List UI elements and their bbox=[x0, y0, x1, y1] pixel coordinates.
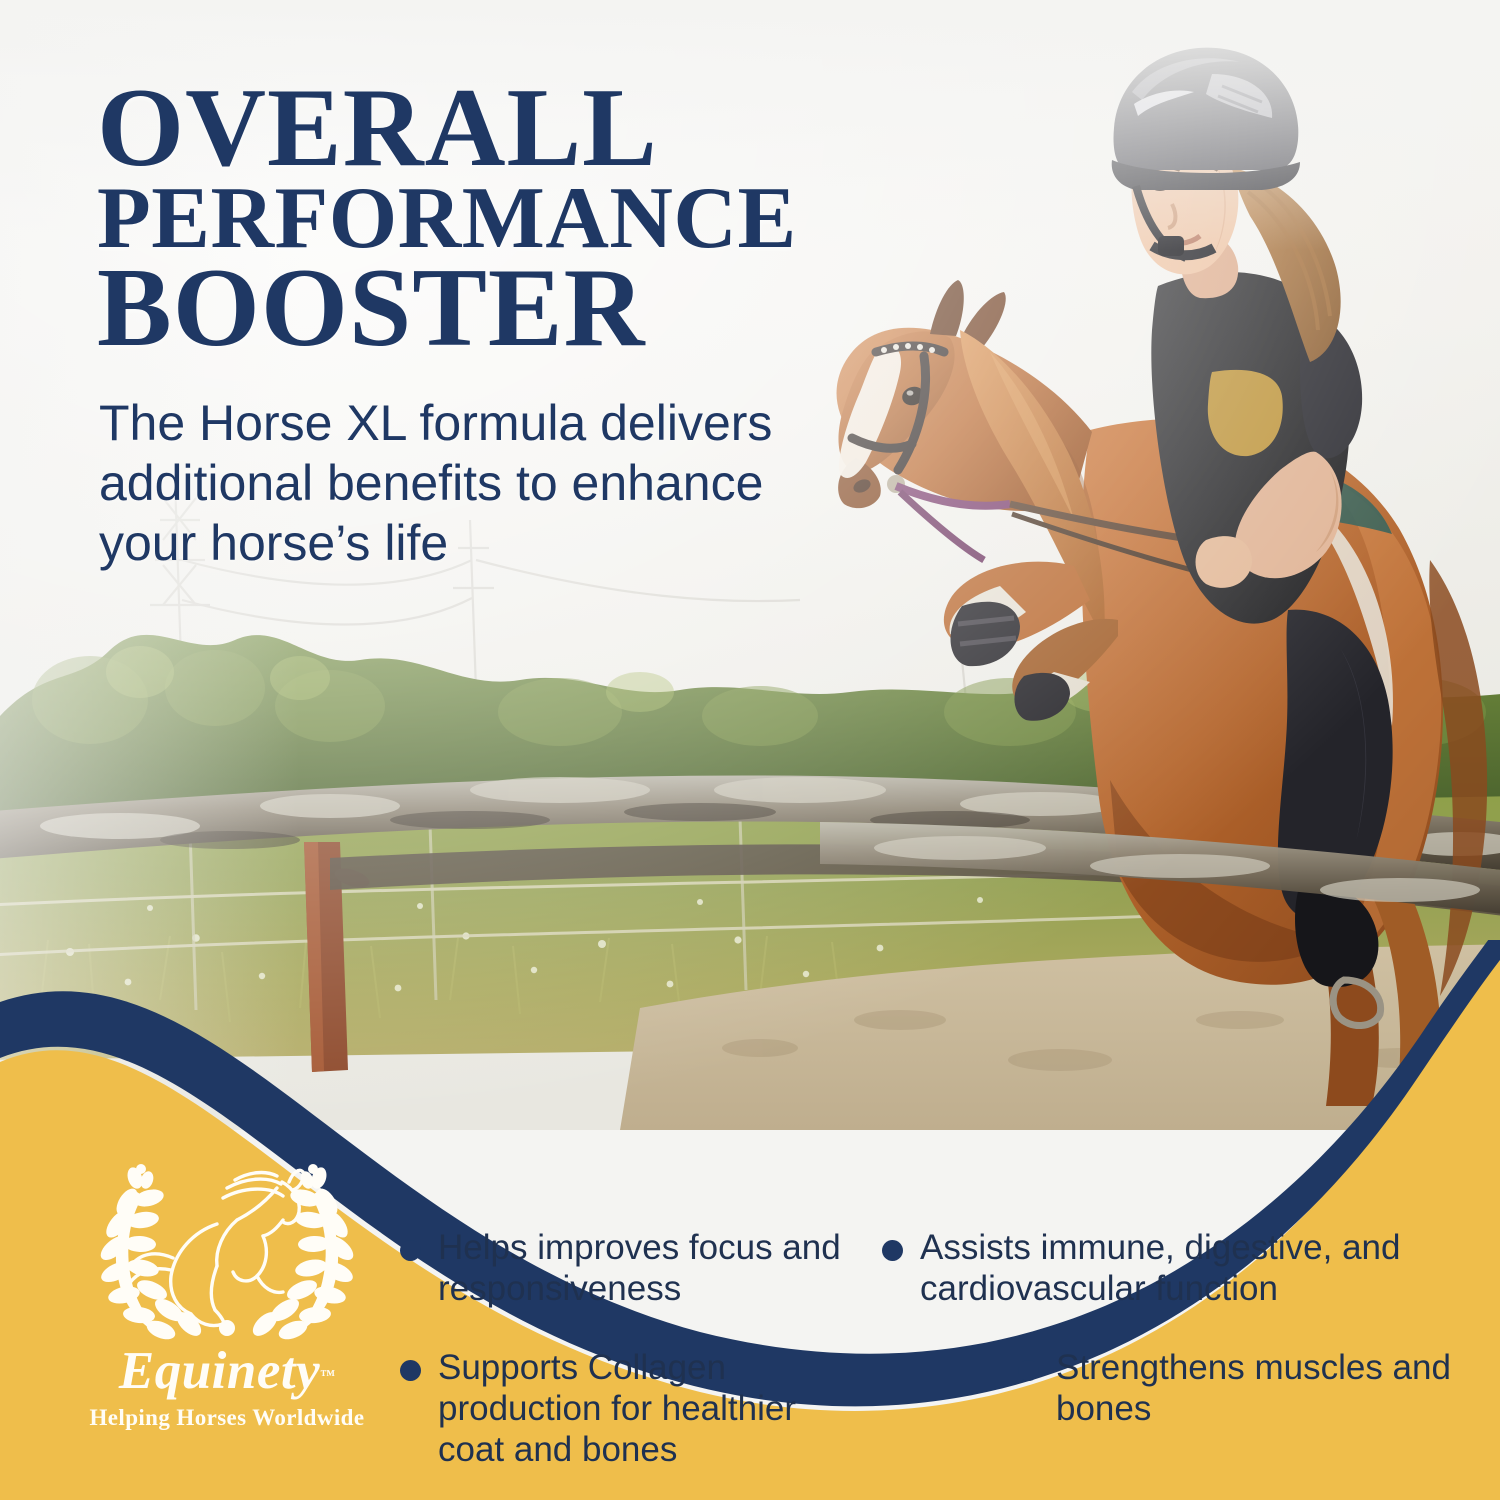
equinety-logo: Equinety™ Helping Horses Worldwide bbox=[62, 1158, 392, 1431]
list-item: Supports Collagen production for healthi… bbox=[400, 1348, 870, 1471]
laurel-wreath-horse-icon bbox=[77, 1158, 377, 1343]
list-item: Helps improves focus and responsiveness bbox=[400, 1228, 870, 1310]
list-item: Assists immune, digestive, and cardiovas… bbox=[870, 1228, 1460, 1310]
benefit-text: Supports Collagen production for healthi… bbox=[438, 1348, 870, 1471]
headline-line-3: BOOSTER bbox=[97, 258, 897, 359]
logo-tagline: Helping Horses Worldwide bbox=[62, 1405, 392, 1431]
benefit-text: Helps improves focus and responsiveness bbox=[438, 1228, 870, 1310]
logo-wordmark-text: Equinety bbox=[119, 1342, 320, 1400]
trademark-icon: ™ bbox=[320, 1368, 335, 1384]
benefit-text: Strengthens muscles and bones bbox=[1056, 1348, 1460, 1430]
bullet-dot-icon bbox=[400, 1240, 421, 1261]
bullet-dot-icon bbox=[882, 1240, 903, 1261]
list-item: Strengthens muscles and bones bbox=[870, 1348, 1460, 1471]
benefit-text: Assists immune, digestive, and cardiovas… bbox=[920, 1228, 1460, 1310]
benefits-list: Helps improves focus and responsiveness … bbox=[400, 1228, 1460, 1471]
logo-wordmark: Equinety™ bbox=[119, 1345, 335, 1398]
page-title: OVERALL PERFORMANCE BOOSTER bbox=[97, 78, 897, 359]
equinety-horse-xl-infographic: OVERALL PERFORMANCE BOOSTER The Horse XL… bbox=[0, 0, 1500, 1500]
headline-line-1: OVERALL bbox=[97, 78, 897, 179]
bullet-dot-icon bbox=[1018, 1360, 1039, 1381]
bullet-dot-icon bbox=[400, 1360, 421, 1381]
subheading: The Horse XL formula delivers additional… bbox=[99, 393, 859, 573]
